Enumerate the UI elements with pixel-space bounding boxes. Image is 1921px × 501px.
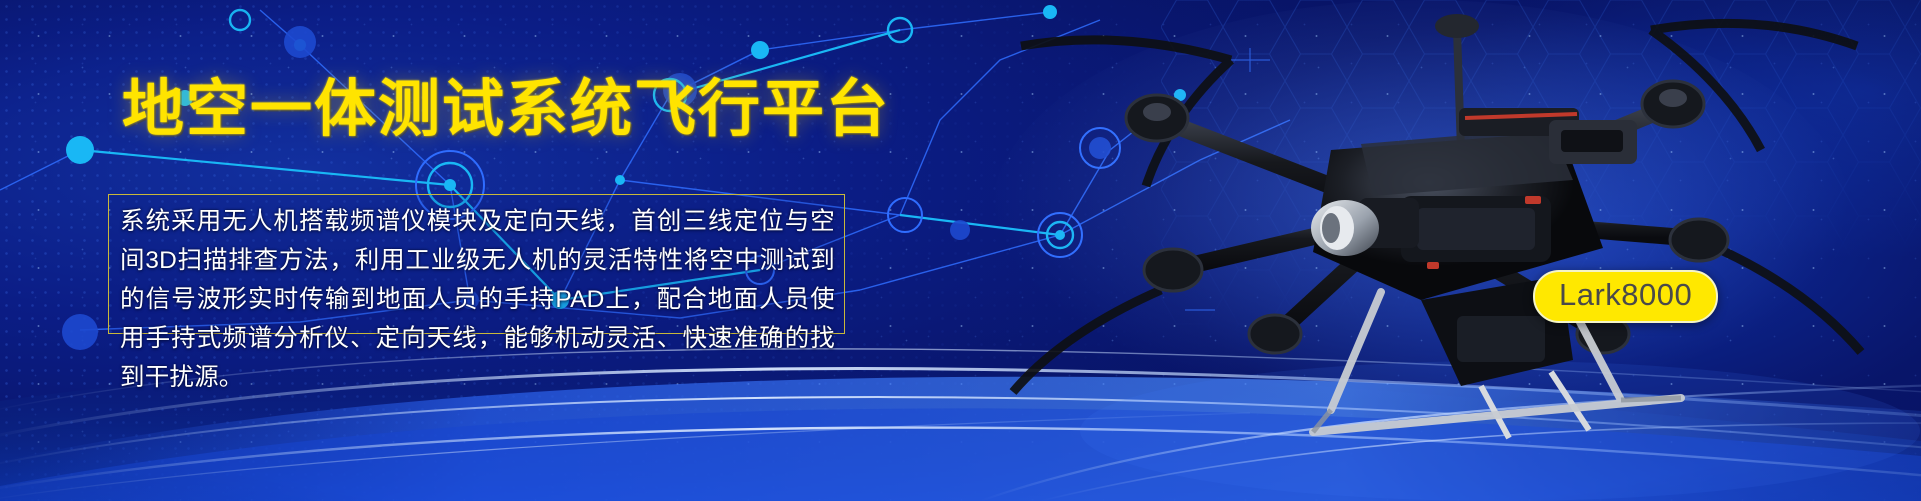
- banner-content: 地空一体测试系统飞行平台 系统采用无人机搭载频谱仪模块及定向天线，首创三线定位与…: [0, 0, 1921, 501]
- description-text: 系统采用无人机搭载频谱仪模块及定向天线，首创三线定位与空间3D扫描排查方法，利用…: [112, 196, 849, 397]
- page-title: 地空一体测试系统飞行平台: [122, 79, 890, 141]
- product-model-badge: Lark8000: [1533, 270, 1718, 323]
- product-banner: 地空一体测试系统飞行平台 系统采用无人机搭载频谱仪模块及定向天线，首创三线定位与…: [0, 0, 1921, 501]
